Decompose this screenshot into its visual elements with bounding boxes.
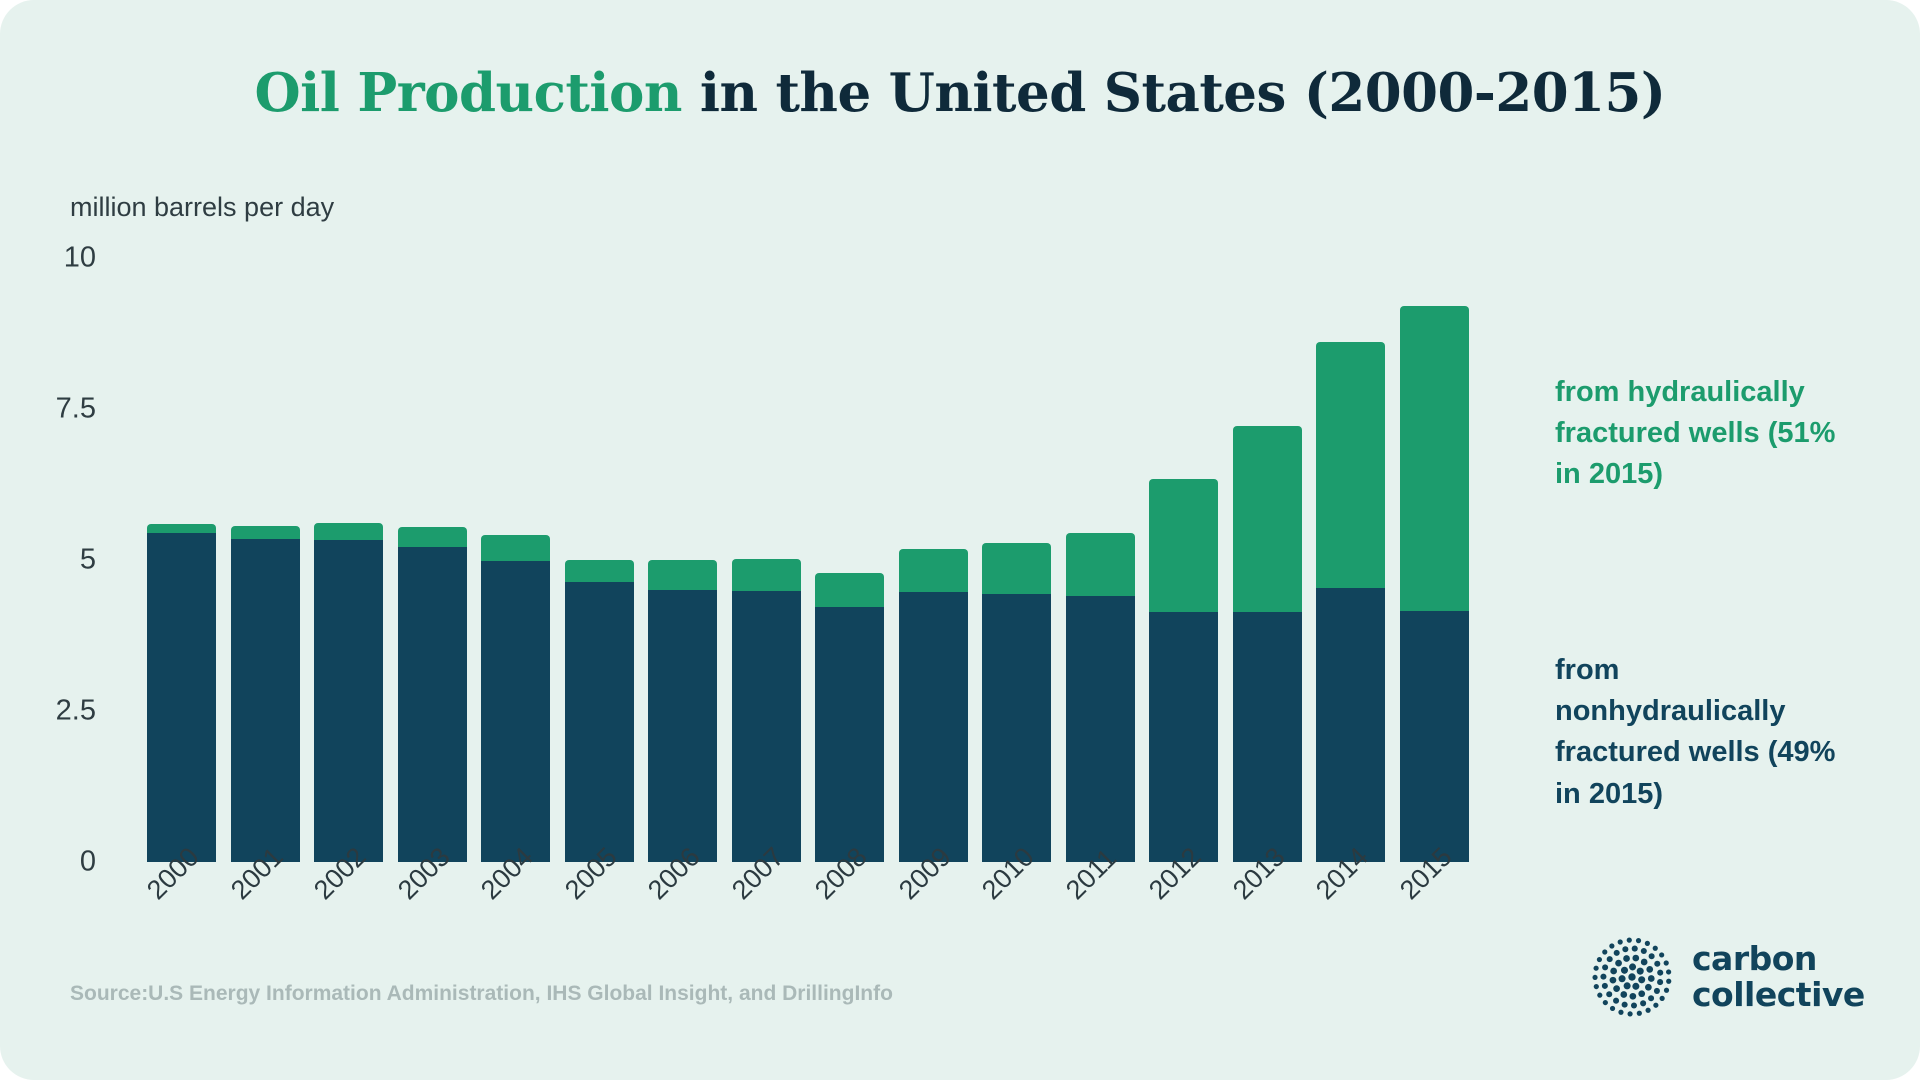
bar-segment-nonfractured-2007 xyxy=(732,591,801,862)
bar-2009[interactable] xyxy=(899,549,968,862)
y-axis-tick-5: 5 xyxy=(0,544,96,577)
bar-segment-fractured-2011 xyxy=(1066,533,1135,596)
bar-segment-nonfractured-2006 xyxy=(648,590,717,862)
bar-2015[interactable] xyxy=(1400,306,1469,862)
bar-segment-nonfractured-2012 xyxy=(1149,612,1218,862)
bar-segment-fractured-2014 xyxy=(1316,342,1385,588)
bar-2012[interactable] xyxy=(1149,479,1218,862)
bar-segment-nonfractured-2014 xyxy=(1316,588,1385,862)
brand-wordmark: carbon collective xyxy=(1692,941,1865,1012)
bar-2004[interactable] xyxy=(481,535,550,862)
bar-segment-fractured-2006 xyxy=(648,560,717,590)
bar-2008[interactable] xyxy=(815,573,884,862)
bar-segment-fractured-2009 xyxy=(899,549,968,592)
bar-segment-nonfractured-2005 xyxy=(565,582,634,862)
bar-segment-nonfractured-2015 xyxy=(1400,611,1469,862)
bar-segment-nonfractured-2000 xyxy=(147,533,216,862)
y-axis-tick-2-5: 2.5 xyxy=(0,695,96,728)
bar-segment-fractured-2007 xyxy=(732,559,801,591)
bar-segment-fractured-2003 xyxy=(398,527,467,547)
bar-2006[interactable] xyxy=(648,560,717,862)
bar-segment-nonfractured-2001 xyxy=(231,539,300,862)
bar-segment-fractured-2012 xyxy=(1149,479,1218,612)
bar-segment-fractured-2013 xyxy=(1233,426,1302,612)
bar-2000[interactable] xyxy=(147,524,216,862)
bar-segment-fractured-2001 xyxy=(231,526,300,539)
bar-segment-fractured-2004 xyxy=(481,535,550,562)
bar-segment-nonfractured-2002 xyxy=(314,540,383,862)
bar-segment-nonfractured-2003 xyxy=(398,547,467,862)
chart-card: Oil Production in the United States (200… xyxy=(0,0,1920,1080)
bar-segment-nonfractured-2011 xyxy=(1066,596,1135,862)
bar-segment-fractured-2015 xyxy=(1400,306,1469,611)
bar-segment-nonfractured-2008 xyxy=(815,607,884,862)
bar-2003[interactable] xyxy=(398,527,467,862)
bar-2010[interactable] xyxy=(982,542,1051,862)
legend-nonfractured: from nonhydraulically fractured wells (4… xyxy=(1555,650,1855,815)
brand-line1: carbon xyxy=(1692,941,1865,977)
source-note: Source:U.S Energy Information Administra… xyxy=(70,982,893,1006)
bar-2007[interactable] xyxy=(732,559,801,862)
bar-segment-nonfractured-2013 xyxy=(1233,612,1302,862)
bar-segment-fractured-2002 xyxy=(314,523,383,541)
bar-segment-nonfractured-2004 xyxy=(481,561,550,862)
bar-2011[interactable] xyxy=(1066,533,1135,862)
bar-segment-fractured-2008 xyxy=(815,573,884,607)
bar-segment-nonfractured-2010 xyxy=(982,594,1051,862)
plot-area: 107.552.50200020012002200320042005200620… xyxy=(0,0,1920,1080)
brand-line2: collective xyxy=(1692,977,1865,1013)
y-axis-tick-10: 10 xyxy=(0,242,96,275)
y-axis-tick-0: 0 xyxy=(0,846,96,879)
bar-2005[interactable] xyxy=(565,560,634,862)
bar-segment-fractured-2010 xyxy=(982,543,1051,595)
bar-segment-fractured-2005 xyxy=(565,560,634,582)
bar-2001[interactable] xyxy=(231,526,300,862)
y-axis-tick-7-5: 7.5 xyxy=(0,393,96,426)
brand-logo: carbon collective xyxy=(1590,935,1865,1019)
carbon-collective-dots-icon xyxy=(1590,935,1674,1019)
legend-fractured: from hydraulically fractured wells (51% … xyxy=(1555,372,1855,496)
bar-2002[interactable] xyxy=(314,523,383,862)
bar-2013[interactable] xyxy=(1233,426,1302,862)
bar-2014[interactable] xyxy=(1316,342,1385,862)
bar-segment-nonfractured-2009 xyxy=(899,592,968,862)
bar-segment-fractured-2000 xyxy=(147,524,216,532)
